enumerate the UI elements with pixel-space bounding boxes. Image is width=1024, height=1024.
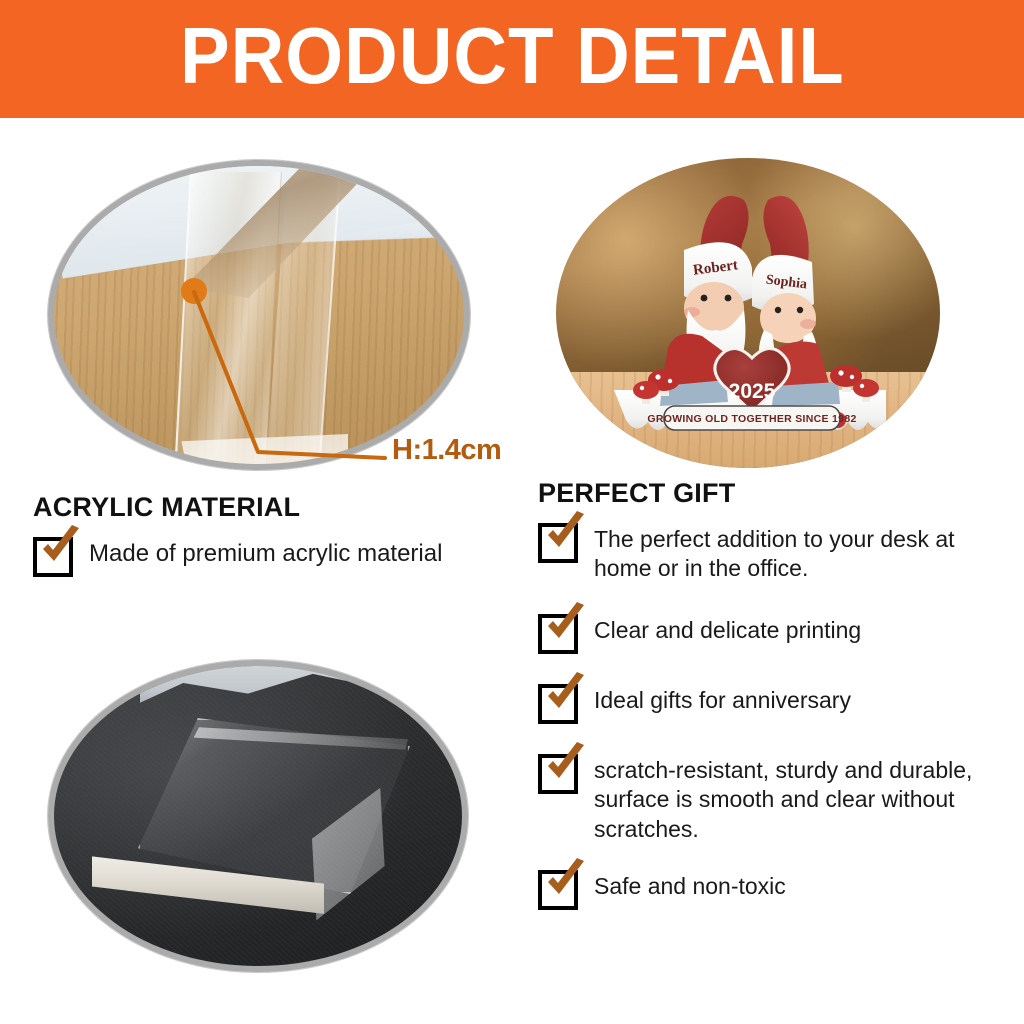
callout-dot-icon: [181, 278, 207, 304]
perfect-gift-heading: PERFECT GIFT: [538, 478, 1008, 509]
list-item-label: scratch-resistant, sturdy and durable, s…: [594, 750, 1008, 844]
list-item-label: Ideal gifts for anniversary: [594, 680, 851, 715]
gnome-couple-figure: 2025 Robert Sophia GROWING OLD TOGETHER …: [556, 158, 940, 468]
slate-top-edge: [140, 660, 468, 724]
checkmark-icon: [538, 684, 578, 724]
acrylic-material-section: ACRYLIC MATERIAL Made of premium acrylic…: [33, 492, 533, 577]
header-banner: PRODUCT DETAIL: [0, 0, 1024, 118]
acrylic-material-heading: ACRYLIC MATERIAL: [33, 492, 533, 523]
checkmark-icon: [538, 754, 578, 794]
height-dimension-label: H:1.4cm: [392, 434, 501, 467]
checkmark-icon: [33, 537, 73, 577]
list-item: Safe and non-toxic: [538, 866, 1008, 910]
checkmark-icon: [538, 870, 578, 910]
checkmark-icon: [538, 614, 578, 654]
perfect-gift-section: PERFECT GIFT The perfect addition to you…: [538, 478, 1008, 932]
gnome-ornament-photo: 2025 Robert Sophia GROWING OLD TOGETHER …: [556, 158, 940, 468]
list-item-label: Safe and non-toxic: [594, 866, 786, 901]
acrylic-block-on-slate-photo: [48, 660, 468, 972]
list-item-label: Clear and delicate printing: [594, 610, 861, 645]
page-title: PRODUCT DETAIL: [180, 16, 845, 102]
checkmark-icon: [538, 523, 578, 563]
list-item: scratch-resistant, sturdy and durable, s…: [538, 750, 1008, 844]
acrylic-block-on-wood-photo: [48, 160, 470, 470]
list-item: Ideal gifts for anniversary: [538, 680, 1008, 724]
list-item: Made of premium acrylic material: [33, 533, 533, 577]
perfect-gift-list: The perfect addition to your desk at hom…: [538, 519, 1008, 910]
acrylic-material-list: Made of premium acrylic material: [33, 533, 533, 577]
ornament-banner-text: GROWING OLD TOGETHER SINCE 1982: [647, 413, 856, 425]
list-item-label: The perfect addition to your desk at hom…: [594, 519, 1008, 584]
list-item: The perfect addition to your desk at hom…: [538, 519, 1008, 584]
ornament-year-text: 2025: [729, 380, 776, 403]
list-item-label: Made of premium acrylic material: [89, 533, 442, 570]
list-item: Clear and delicate printing: [538, 610, 1008, 654]
